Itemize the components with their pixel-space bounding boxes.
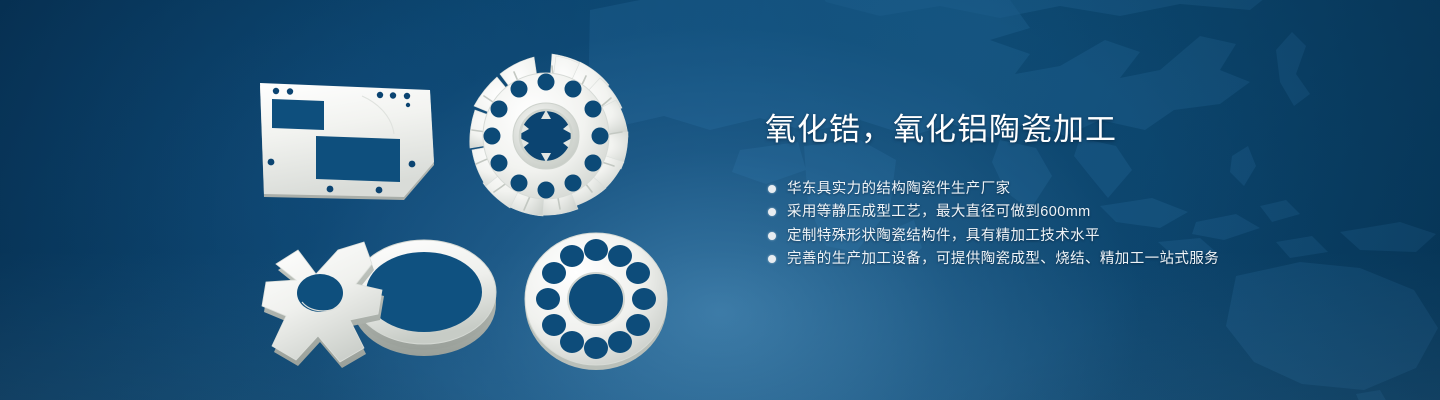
banner-copy-block: 氧化锆，氧化铝陶瓷加工 华东具实力的结构陶瓷件生产厂家 采用等静压成型工艺，最大… [765, 110, 1305, 271]
ceramic-mounting-plate-image [252, 78, 442, 204]
feature-text: 定制特殊形状陶瓷结构件，具有精加工技术水平 [787, 226, 1100, 246]
ceramic-processing-banner: 氧化锆，氧化铝陶瓷加工 华东具实力的结构陶瓷件生产厂家 采用等静压成型工艺，最大… [0, 0, 1440, 400]
list-item: 采用等静压成型工艺，最大直径可做到600mm [768, 201, 1305, 224]
bullet-dot-icon [768, 185, 776, 193]
feature-text: 采用等静压成型工艺，最大直径可做到600mm [787, 202, 1091, 222]
bullet-dot-icon [768, 208, 776, 216]
bullet-dot-icon [768, 255, 776, 263]
list-item: 定制特殊形状陶瓷结构件，具有精加工技术水平 [768, 224, 1305, 247]
page-title: 氧化锆，氧化铝陶瓷加工 [765, 110, 1305, 150]
ceramic-hole-disc-image [518, 228, 674, 370]
feature-list: 华东具实力的结构陶瓷件生产厂家 采用等静压成型工艺，最大直径可做到600mm 定… [768, 177, 1305, 271]
bullet-dot-icon [768, 232, 776, 240]
feature-text: 完善的生产加工设备，可提供陶瓷成型、烧结、精加工一站式服务 [787, 249, 1219, 269]
list-item: 华东具实力的结构陶瓷件生产厂家 [768, 177, 1305, 200]
ceramic-impeller-image [448, 48, 644, 224]
product-photo-collage [0, 0, 720, 400]
feature-text: 华东具实力的结构陶瓷件生产厂家 [787, 179, 1011, 199]
ceramic-cross-plate-image [252, 228, 522, 368]
list-item: 完善的生产加工设备，可提供陶瓷成型、烧结、精加工一站式服务 [768, 248, 1305, 271]
